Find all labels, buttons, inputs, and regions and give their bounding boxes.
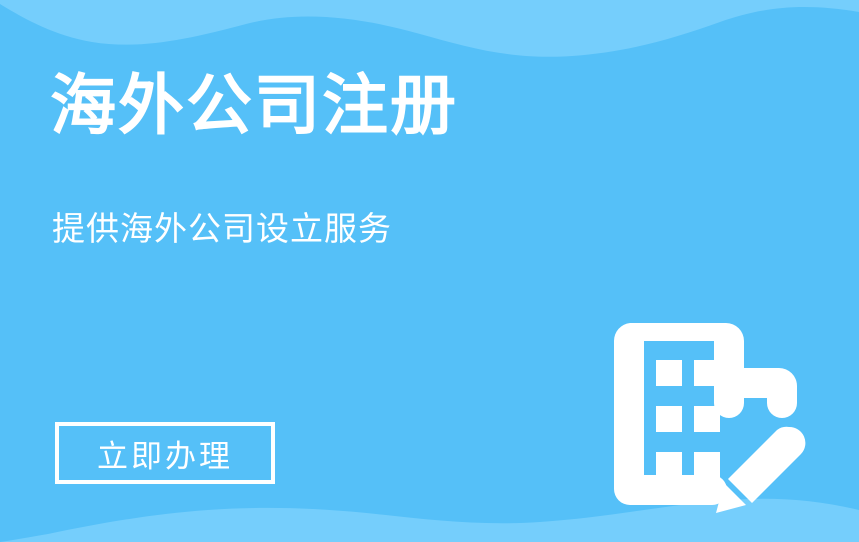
top-wave-decoration [0, 0, 859, 70]
page-subtitle: 提供海外公司设立服务 [52, 209, 392, 249]
building-edit-icon [608, 305, 820, 517]
apply-now-button-label: 立即办理 [97, 431, 233, 476]
apply-now-button[interactable]: 立即办理 [55, 422, 275, 484]
overseas-company-registration-banner: 海外公司注册 提供海外公司设立服务 立即办理 [0, 0, 859, 542]
page-title: 海外公司注册 [50, 72, 458, 139]
